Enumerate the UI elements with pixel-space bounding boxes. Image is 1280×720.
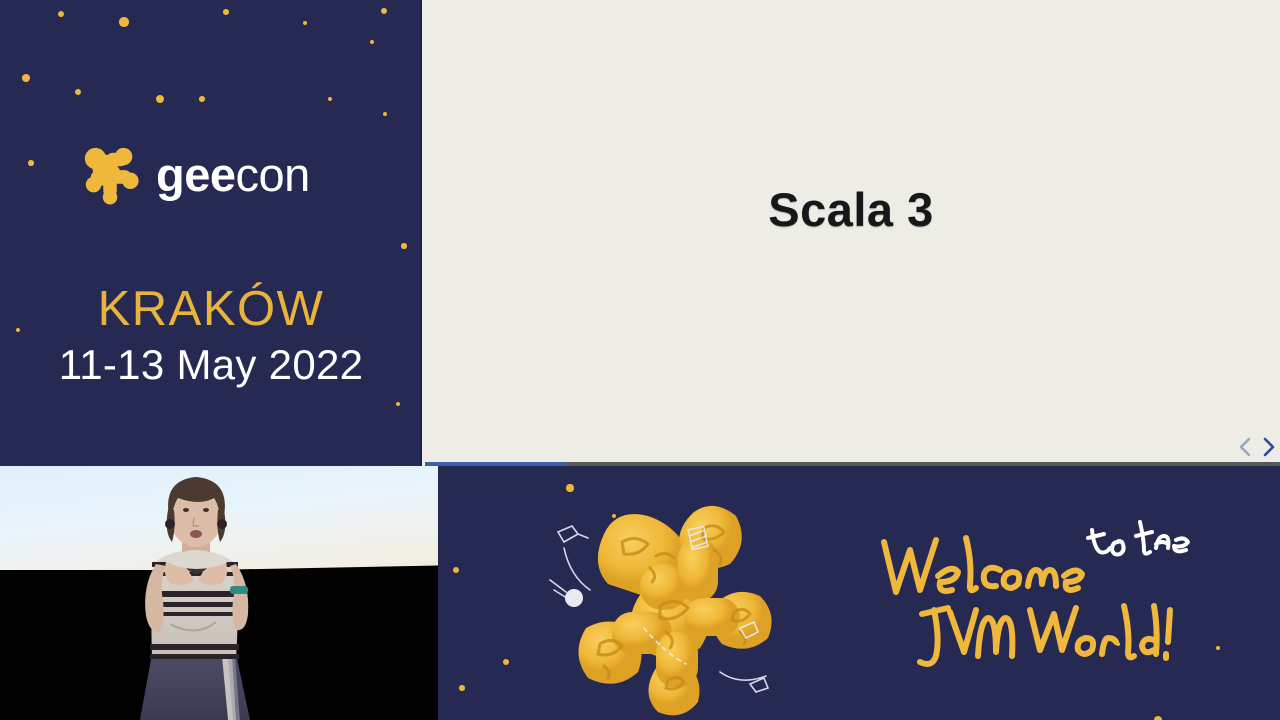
- star-dot: [199, 96, 205, 102]
- geecon-wordmark: geecon: [156, 151, 310, 198]
- star-dot: [503, 659, 509, 665]
- star-dot: [28, 160, 33, 165]
- golden-asteroid-cluster-icon: [544, 472, 824, 720]
- conference-city: KRAKÓW: [0, 281, 422, 337]
- star-dot: [22, 74, 30, 82]
- conference-dates: 11-13 May 2022: [0, 341, 422, 389]
- star-dot: [383, 112, 387, 116]
- star-dot: [119, 17, 128, 26]
- star-dot: [1216, 646, 1221, 651]
- star-dot: [75, 89, 82, 96]
- speaker-video-panel[interactable]: [0, 466, 438, 720]
- presentation-slide-panel: Scala 3: [422, 0, 1280, 466]
- star-dot: [58, 11, 64, 17]
- speaker-figure: [0, 466, 438, 720]
- star-dot: [453, 567, 459, 573]
- star-dot: [328, 97, 332, 101]
- star-dot: [401, 243, 406, 248]
- star-dot: [1154, 716, 1162, 720]
- geecon-molecule-logo-icon: [80, 143, 142, 205]
- screen-recording-frame: geecon KRAKÓW 11-13 May 2022 Scala 3: [0, 0, 1280, 720]
- wordmark-bold: gee: [156, 148, 236, 201]
- slide-title: Scala 3: [422, 182, 1280, 237]
- star-dot: [370, 40, 374, 44]
- geecon-brand-panel: geecon KRAKÓW 11-13 May 2022: [0, 0, 422, 466]
- star-dot: [381, 8, 387, 14]
- star-dot: [156, 95, 164, 103]
- wordmark-light: con: [236, 148, 310, 201]
- slide-navigation[interactable]: [1238, 436, 1276, 458]
- star-dot: [459, 685, 465, 691]
- chevron-left-icon[interactable]: [1238, 436, 1252, 458]
- star-dot: [223, 9, 229, 15]
- starfield-decoration: [0, 0, 422, 466]
- welcome-banner-panel: [438, 466, 1280, 720]
- star-dot: [396, 402, 401, 407]
- star-dot: [303, 21, 308, 26]
- welcome-headline: [878, 514, 1208, 674]
- geecon-logo: geecon: [80, 143, 310, 205]
- chevron-right-icon[interactable]: [1262, 436, 1276, 458]
